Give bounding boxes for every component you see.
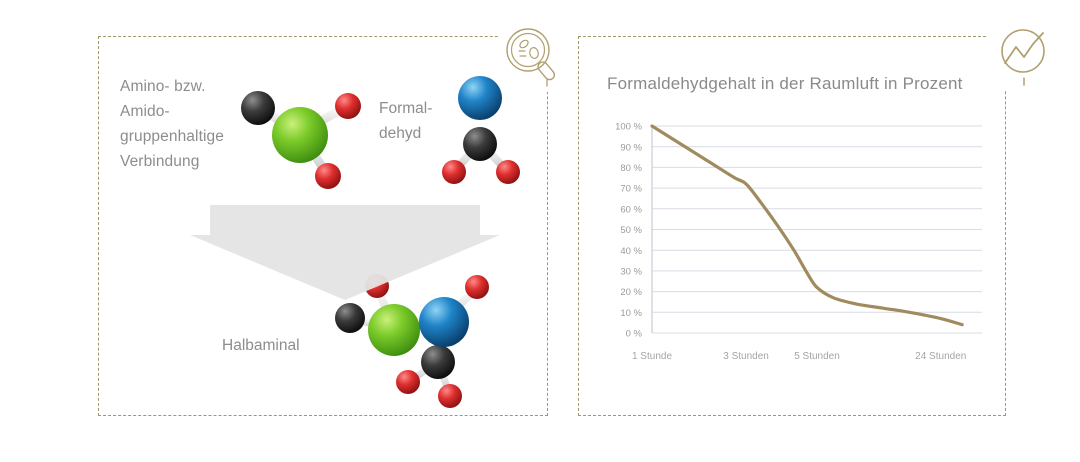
y-axis-tick-label: 80 % — [620, 163, 642, 174]
x-axis-tick-label: 1 Stunde — [632, 351, 672, 362]
y-axis-tick-label: 0 % — [626, 329, 643, 340]
y-axis-tick-label: 100 % — [615, 122, 642, 133]
x-axis-tick-label: 5 Stunden — [794, 351, 840, 362]
chart-title: Formaldehydgehalt in der Raumluft in Pro… — [607, 74, 963, 94]
chart-plot: 100 %90 %80 %70 %60 %50 %40 %30 %20 %10 … — [596, 118, 996, 378]
formaldehyde-molecule — [432, 66, 532, 191]
chart-series-line — [652, 126, 962, 325]
label-halbaminal: Halbaminal — [222, 337, 300, 355]
y-axis-tick-label: 20 % — [620, 287, 642, 298]
infographic-root: Amino- bzw. Amido- gruppenhaltige Verbin… — [0, 0, 1080, 462]
y-axis-tick-label: 60 % — [620, 204, 642, 215]
y-axis-tick-label: 10 % — [620, 308, 642, 319]
y-axis-tick-label: 50 % — [620, 225, 642, 236]
y-axis-tick-label: 70 % — [620, 184, 642, 195]
down-arrow-icon — [190, 205, 500, 300]
y-axis-tick-label: 90 % — [620, 142, 642, 153]
x-axis-tick-label: 24 Stunden — [915, 351, 966, 362]
y-axis-tick-label: 30 % — [620, 267, 642, 278]
trend-circle-icon — [988, 18, 1060, 90]
y-axis-tick-label: 40 % — [620, 246, 642, 257]
amine-compound-molecule — [230, 80, 380, 200]
x-axis-tick-label: 3 Stunden — [723, 351, 769, 362]
